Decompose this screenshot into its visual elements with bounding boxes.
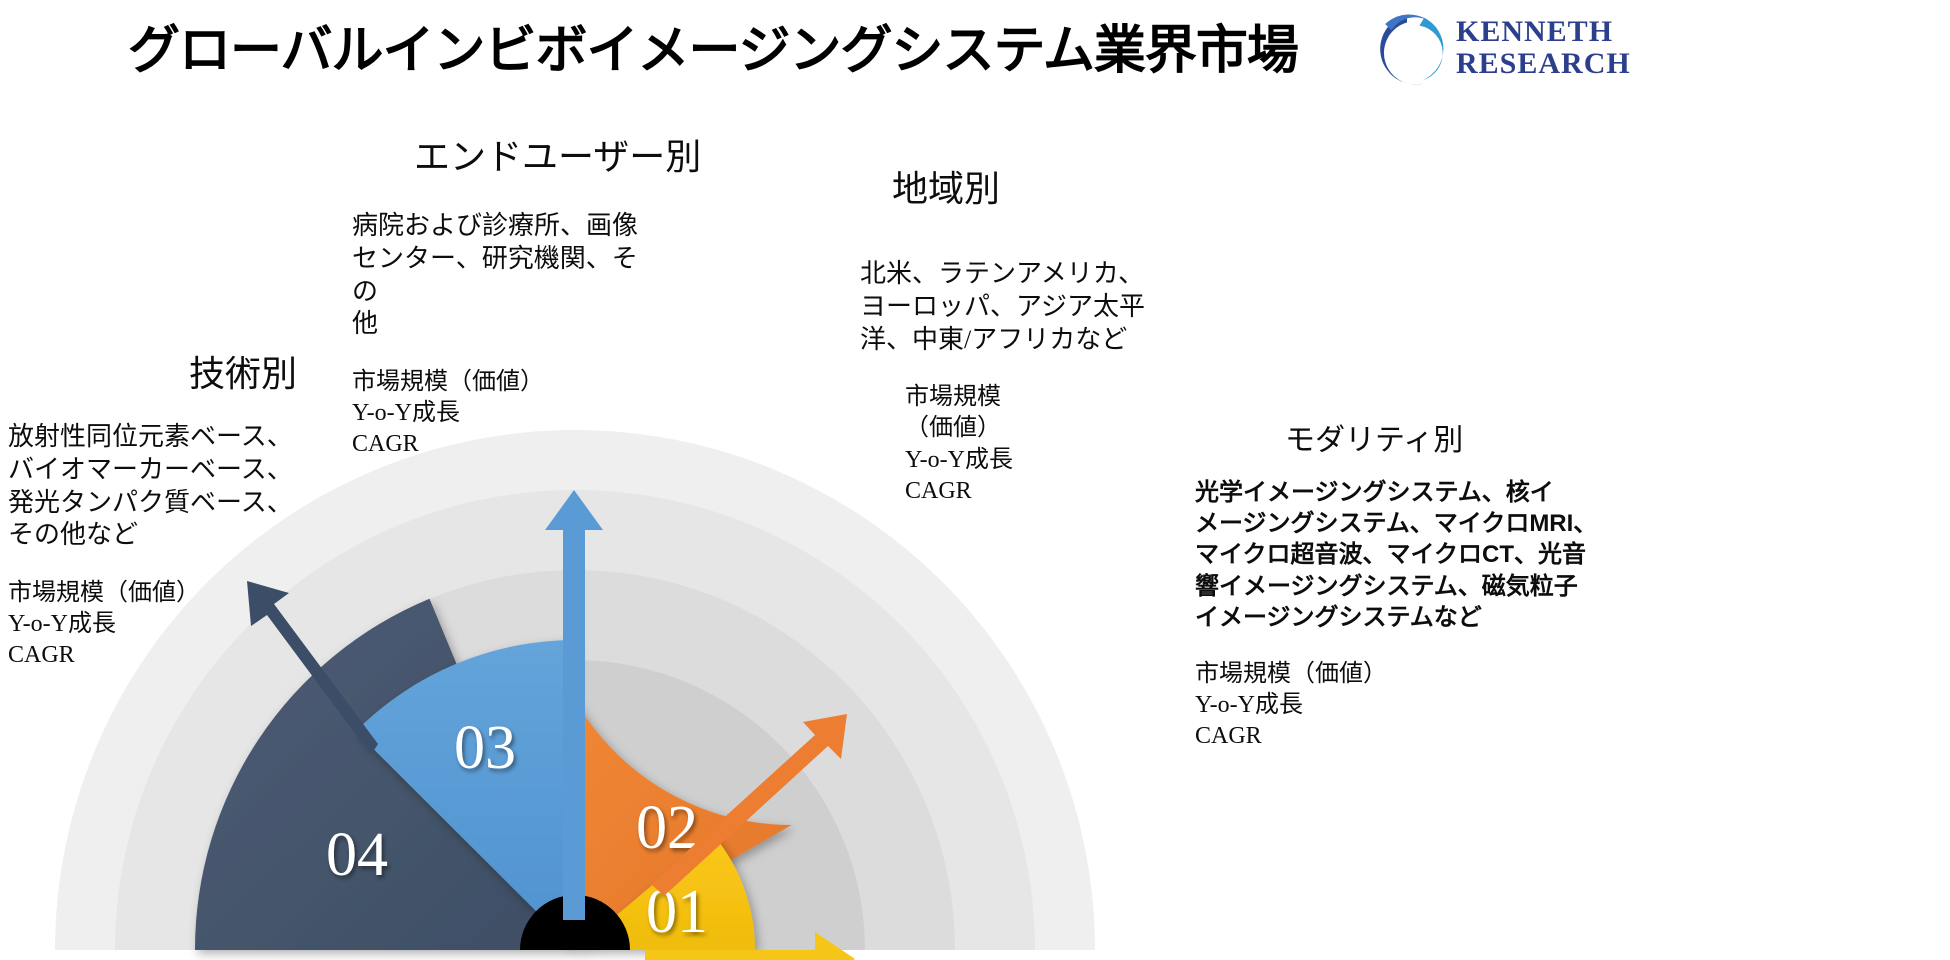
metric-cagr: CAGR [8,640,368,671]
body-line: センター、研究機関、その [352,243,652,309]
segment-technology-heading: 技術別 [8,345,368,397]
body-line: 光学イメージングシステム、核イ [1195,477,1625,508]
body-line: マイクロ超音波、マイクロCT、光音 [1195,539,1625,570]
body-line: 他 [352,308,652,341]
segment-end-user-metrics: 市場規模（価値） Y-o-Y成長 CAGR [352,367,652,461]
page-title: グローバルインビボイメージングシステム業界市場 [128,8,1298,83]
segment-modality-metrics: 市場規模（価値） Y-o-Y成長 CAGR [1195,659,1625,753]
body-line: イメージングシステムなど [1195,602,1625,633]
segment-region-heading: 地域別 [892,160,1020,212]
metric-cagr: CAGR [352,429,652,460]
segment-modality-text: モダリティ別 光学イメージングシステム、核イ メージングシステム、マイクロMRI… [1195,415,1625,753]
brand-logo: KENNETH RESEARCH [1368,8,1628,88]
segment-modality-body: 光学イメージングシステム、核イ メージングシステム、マイクロMRI、 マイクロ超… [1195,477,1625,633]
body-line: 放射性同位元素ベース、 [8,421,368,454]
body-line: その他など [8,519,368,552]
brand-line-2: RESEARCH [1456,48,1631,80]
brand-line-1: KENNETH [1456,16,1631,48]
swirl-circle-icon [1368,10,1446,88]
segment-region-text: 地域別 北米、ラテンアメリカ、 ヨーロッパ、アジア太平 洋、中東/アフリカなど … [700,160,1020,507]
segment-region-body: 北米、ラテンアメリカ、 ヨーロッパ、アジア太平 洋、中東/アフリカなど [860,258,1200,356]
segment-03-number: 03 [454,714,516,782]
segment-technology-body: 放射性同位元素ベース、 バイオマーカーベース、 発光タンパク質ベース、 その他な… [8,421,368,552]
segment-end-user-text: エンドユーザー別 病院および診療所、画像 センター、研究機関、その 他 市場規模… [352,128,652,461]
body-line: メージングシステム、マイクロMRI、 [1195,508,1625,539]
body-line: 北米、ラテンアメリカ、 [860,258,1200,291]
metric-cagr: CAGR [1195,721,1625,752]
body-line: 発光タンパク質ベース、 [8,487,368,520]
segment-04-number: 04 [326,821,388,889]
metric-market-size: 市場規模（価値） [1195,659,1625,690]
body-line: 響イメージングシステム、磁気粒子 [1195,571,1625,602]
segment-end-user-body: 病院および診療所、画像 センター、研究機関、その 他 [352,210,652,341]
metric-yoy: Y-o-Y成長 [905,445,1020,476]
infographic-canvas: グローバルインビボイメージングシステム業界市場 KENNETH RESEARCH [0,0,1950,960]
metric-yoy: Y-o-Y成長 [1195,690,1625,721]
body-line: 洋、中東/アフリカなど [860,324,1200,357]
segment-region-metrics: 市場規模（価値） Y-o-Y成長 CAGR [905,382,1020,507]
metric-market-size: 市場規模（価値） [8,578,368,609]
segment-end-user-heading: エンドユーザー別 [414,128,652,180]
brand-name: KENNETH RESEARCH [1456,16,1631,81]
metric-yoy: Y-o-Y成長 [8,609,368,640]
segment-01-number: 01 [646,878,708,946]
segment-technology-text: 技術別 放射性同位元素ベース、 バイオマーカーベース、 発光タンパク質ベース、 … [8,345,368,672]
segment-modality-heading: モダリティ別 [1285,415,1625,459]
body-line: 病院および診療所、画像 [352,210,652,243]
segment-technology-metrics: 市場規模（価値） Y-o-Y成長 CAGR [8,578,368,672]
body-line: ヨーロッパ、アジア太平 [860,291,1200,324]
metric-cagr: CAGR [905,476,1020,507]
metric-yoy: Y-o-Y成長 [352,398,652,429]
body-line: バイオマーカーベース、 [8,454,368,487]
metric-market-size: 市場規模（価値） [905,382,1020,444]
metric-market-size: 市場規模（価値） [352,367,652,398]
